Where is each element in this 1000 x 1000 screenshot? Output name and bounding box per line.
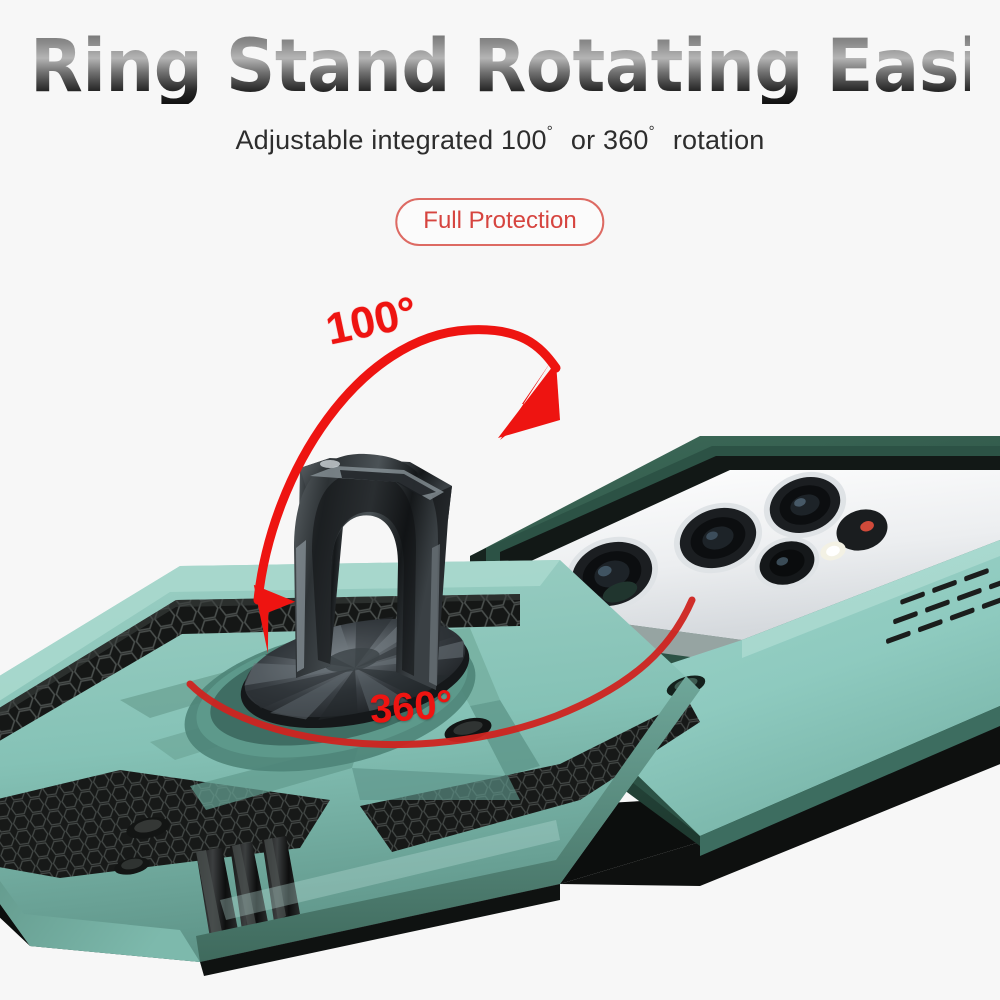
status-badge: Full Protection: [395, 198, 604, 246]
subtitle: Adjustable integrated 100°or 360°rotatio…: [0, 123, 1000, 156]
degree-symbol-2: °: [649, 123, 655, 140]
subtitle-part-3: rotation: [673, 125, 765, 155]
case-assembly: [0, 436, 1000, 976]
rotation-angle-label: 360°: [368, 682, 454, 733]
degree-symbol-1: °: [547, 123, 553, 140]
page-title: Ring Stand Rotating Easily: [30, 30, 970, 104]
subtitle-part-1: Adjustable integrated 100: [235, 125, 546, 155]
product-marketing-image: Ring Stand Rotating Easily Adjustable in…: [0, 0, 1000, 1000]
subtitle-part-2: or 360: [571, 125, 649, 155]
